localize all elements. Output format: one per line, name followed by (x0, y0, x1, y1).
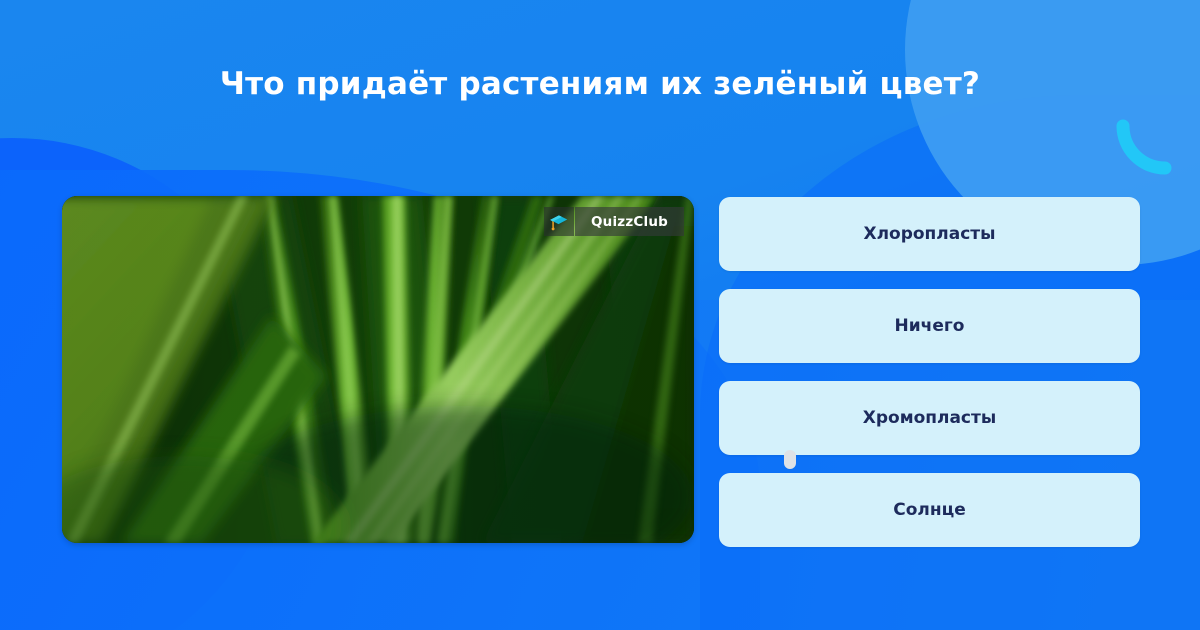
answer-option-1[interactable]: Хлоропласты (719, 197, 1140, 271)
question-image: QuizzClub (62, 196, 694, 543)
graduation-cap-icon (544, 207, 574, 236)
answer-option-4[interactable]: Солнце (719, 473, 1140, 547)
watermark-label: QuizzClub (575, 207, 684, 236)
answer-label: Солнце (893, 500, 965, 520)
page-title: Что придаёт растениям их зелёный цвет? (0, 66, 1200, 102)
answer-label: Хромопласты (863, 408, 997, 428)
answer-label: Ничего (895, 316, 965, 336)
watermark: QuizzClub (544, 207, 684, 236)
scrollbar-thumb[interactable] (784, 450, 796, 469)
answer-label: Хлоропласты (863, 224, 995, 244)
leaves-illustration (62, 196, 694, 543)
answers-list: Хлоропласты Ничего Хромопласты Солнце (719, 197, 1140, 547)
quiz-card: Что придаёт растениям их зелёный цвет? (0, 0, 1200, 630)
leaves-svg (62, 196, 694, 543)
cyan-arc-icon (1113, 118, 1175, 180)
answer-option-2[interactable]: Ничего (719, 289, 1140, 363)
answer-option-3[interactable]: Хромопласты (719, 381, 1140, 455)
